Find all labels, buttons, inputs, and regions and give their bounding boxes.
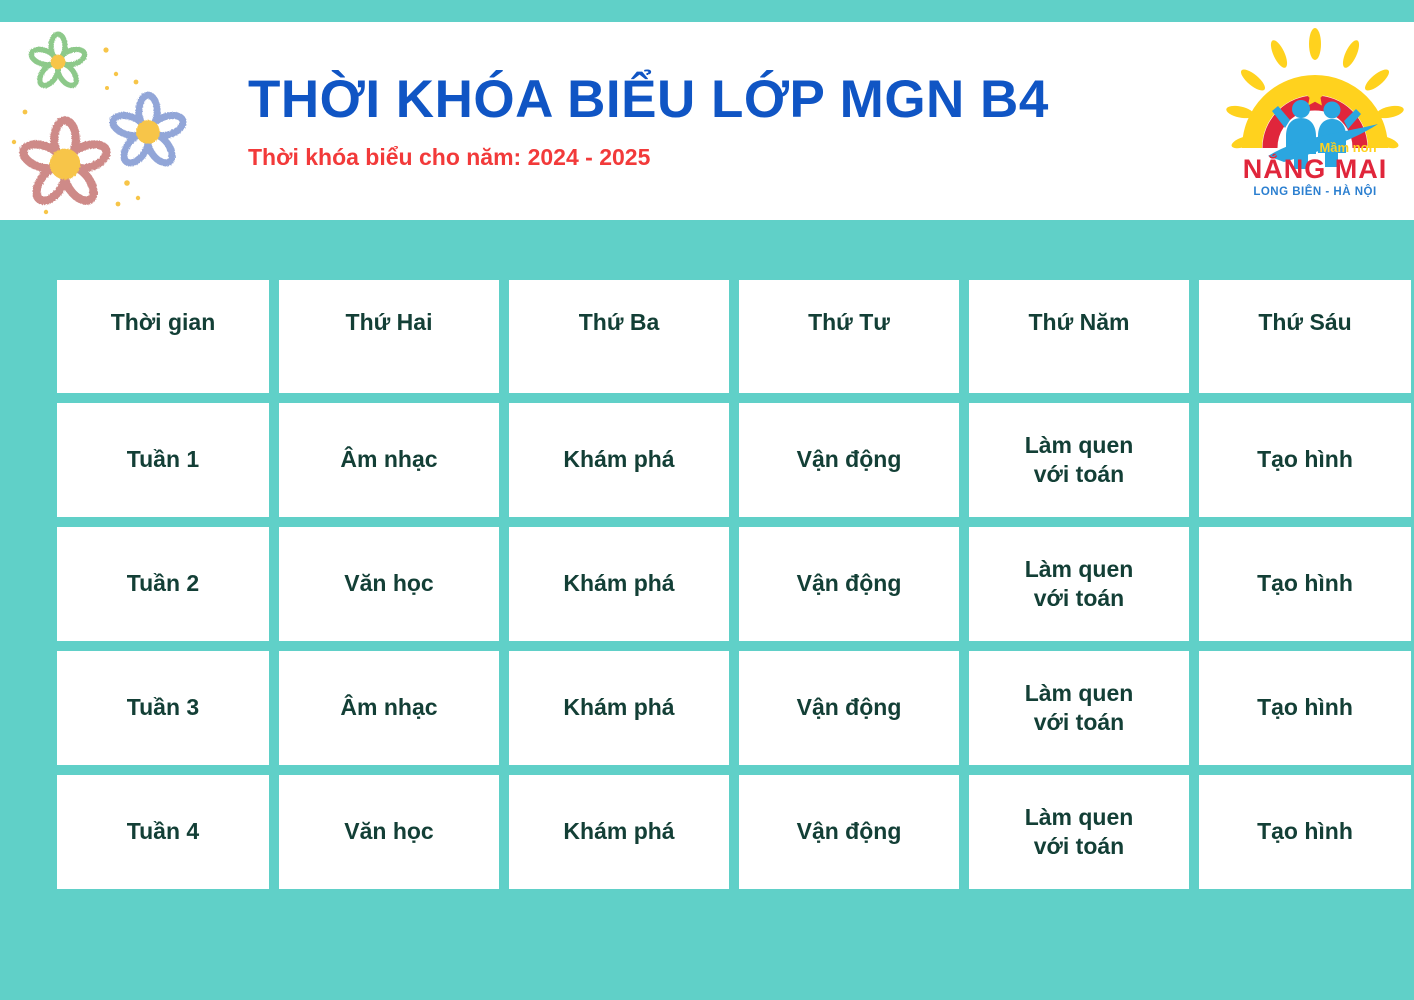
schedule-cell: Âm nhạc: [279, 651, 499, 765]
row-label-week: Tuần 2: [57, 527, 269, 641]
top-accent-strip: [0, 0, 1414, 22]
schedule-cell: Làm quenvới toán: [969, 403, 1189, 517]
column-header-tuesday: Thứ Ba: [509, 280, 729, 393]
schedule-cell-line: với toán: [1025, 584, 1134, 613]
logo-brand-top: Mầm non: [1319, 140, 1376, 155]
schedule-cell-line: với toán: [1025, 460, 1134, 489]
schedule-table: Thời gian Thứ Hai Thứ Ba Thứ Tư Thứ Năm …: [57, 280, 1371, 889]
logo-brand-sub: LONG BIÊN - HÀ NỘI: [1253, 185, 1376, 198]
schedule-cell: Tạo hình: [1199, 775, 1411, 889]
column-header-thursday: Thứ Năm: [969, 280, 1189, 393]
school-logo: Mầm non NẮNG MAI LONG BIÊN - HÀ NỘI: [1222, 28, 1408, 210]
row-label-week: Tuần 3: [57, 651, 269, 765]
schedule-cell-line: Làm quen: [1025, 803, 1134, 832]
schedule-cell-line: Làm quen: [1025, 431, 1134, 460]
page-title: THỜI KHÓA BIỂU LỚP MGN B4: [248, 71, 1208, 128]
schedule-cell-line: Làm quen: [1025, 679, 1134, 708]
schedule-cell: Tạo hình: [1199, 403, 1411, 517]
row-label-week: Tuần 1: [57, 403, 269, 517]
logo-svg: Mầm non NẮNG MAI LONG BIÊN - HÀ NỘI: [1222, 28, 1408, 210]
schedule-cell: Làm quenvới toán: [969, 651, 1189, 765]
schedule-cell: Khám phá: [509, 651, 729, 765]
schedule-cell: Văn học: [279, 527, 499, 641]
column-header-friday: Thứ Sáu: [1199, 280, 1411, 393]
title-block: THỜI KHÓA BIỂU LỚP MGN B4 Thời khóa biểu…: [248, 22, 1208, 220]
column-header-wednesday: Thứ Tư: [739, 280, 959, 393]
schedule-cell: Tạo hình: [1199, 527, 1411, 641]
schedule-cell: Khám phá: [509, 403, 729, 517]
schedule-cell: Vận động: [739, 775, 959, 889]
table-header-row: Thời gian Thứ Hai Thứ Ba Thứ Tư Thứ Năm …: [57, 280, 1371, 393]
table-row: Tuần 4 Văn học Khám phá Vận động Làm que…: [57, 775, 1371, 889]
schedule-cell: Khám phá: [509, 527, 729, 641]
page-subtitle: Thời khóa biểu cho năm: 2024 - 2025: [248, 144, 1208, 171]
schedule-cell: Vận động: [739, 651, 959, 765]
row-label-week: Tuần 4: [57, 775, 269, 889]
column-header-monday: Thứ Hai: [279, 280, 499, 393]
column-header-time: Thời gian: [57, 280, 269, 393]
schedule-cell: Làm quenvới toán: [969, 775, 1189, 889]
schedule-cell: Khám phá: [509, 775, 729, 889]
schedule-cell-line: Làm quen: [1025, 555, 1134, 584]
schedule-cell: Âm nhạc: [279, 403, 499, 517]
schedule-cell-line: với toán: [1025, 832, 1134, 861]
schedule-cell: Tạo hình: [1199, 651, 1411, 765]
schedule-cell: Vận động: [739, 527, 959, 641]
schedule-cell: Vận động: [739, 403, 959, 517]
table-row: Tuần 3 Âm nhạc Khám phá Vận động Làm que…: [57, 651, 1371, 765]
schedule-cell: Làm quenvới toán: [969, 527, 1189, 641]
schedule-cell-line: với toán: [1025, 708, 1134, 737]
table-row: Tuần 2 Văn học Khám phá Vận động Làm que…: [57, 527, 1371, 641]
table-row: Tuần 1 Âm nhạc Khám phá Vận động Làm que…: [57, 403, 1371, 517]
schedule-cell: Văn học: [279, 775, 499, 889]
logo-brand-main: NẮNG MAI: [1243, 153, 1388, 184]
